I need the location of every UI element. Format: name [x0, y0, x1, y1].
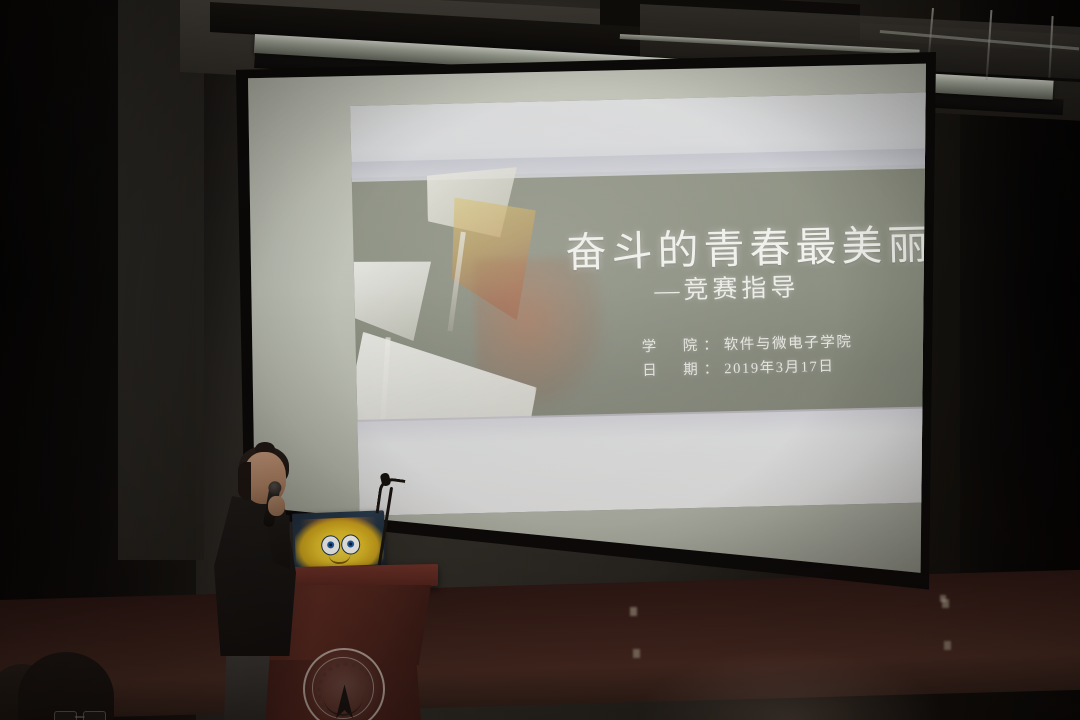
glasses-lens [83, 711, 106, 720]
slide-subtitle: —竞赛指导 [654, 263, 926, 307]
slide-meta: 学 院：软件与微电子学院 日 期：2019年3月17日 [641, 330, 853, 383]
slide-meta-row-date: 日 期：2019年3月17日 [642, 354, 853, 383]
floor-glint [633, 649, 640, 658]
slide-meta-label: 学 院： [642, 337, 724, 355]
cartoon-face-sticker [294, 516, 384, 567]
sticker-pupil [347, 540, 354, 547]
presenter-hand [268, 496, 285, 516]
presenter-hair-side [238, 462, 251, 500]
sticker-mouth [329, 554, 351, 565]
sticker-eye [321, 535, 341, 556]
university-seal [303, 648, 385, 720]
glasses-lens [54, 711, 77, 720]
presentation-slide: 奋斗的青春最美丽 —竞赛指导 学 院：软件与微电子学院 日 期：2019年3月1… [350, 91, 926, 515]
sticker-pupil [327, 541, 334, 548]
sticker-eye [341, 534, 361, 555]
floor-sheen [640, 650, 940, 720]
auditorium-photo: 奋斗的青春最美丽 —竞赛指导 学 院：软件与微电子学院 日 期：2019年3月1… [0, 0, 1080, 720]
laptop [292, 510, 386, 569]
slide-band-bottom [357, 407, 926, 515]
floor-glint [630, 607, 637, 616]
slide-meta-value: 2019年3月17日 [724, 359, 835, 378]
left-wall-column [118, 0, 204, 560]
eyeglasses-icon [54, 711, 106, 720]
slide-meta-value: 软件与微电子学院 [724, 334, 853, 353]
floor-glint [940, 595, 946, 602]
floor-glint [944, 641, 951, 650]
slide-meta-label: 日 期： [642, 361, 724, 379]
